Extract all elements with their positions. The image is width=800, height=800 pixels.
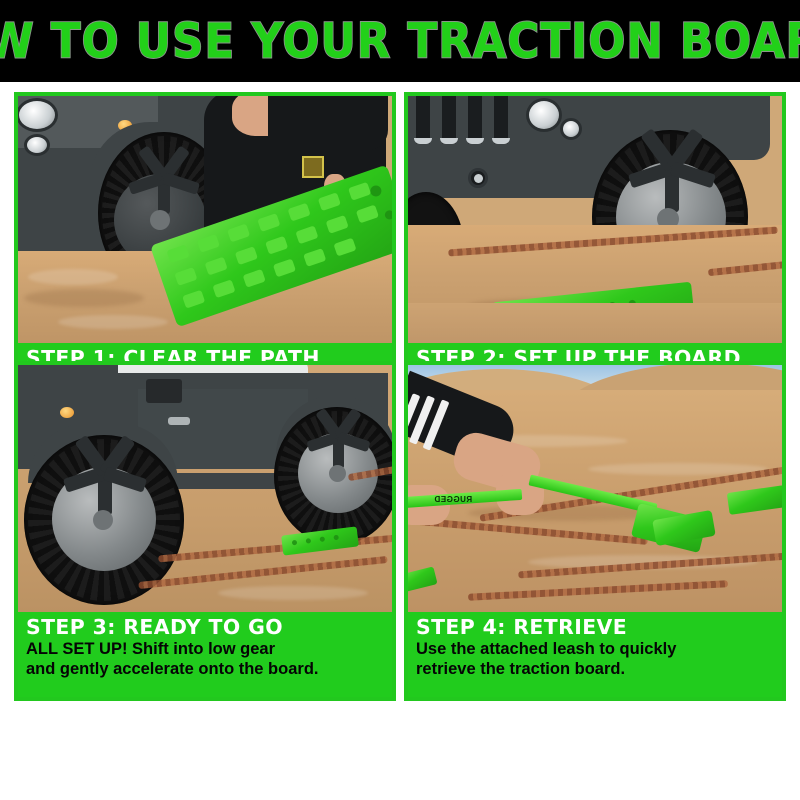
step-3-body-line2: and gently accelerate onto the board. xyxy=(26,660,384,680)
page-title: HOW TO USE YOUR TRACTION BOARDS xyxy=(0,17,800,65)
step-card-4: RUGGED STEP 4: RETRIEVE Use the attached… xyxy=(404,361,786,701)
headlight-icon xyxy=(18,98,58,132)
step-card-3: STEP 3: READY TO GO ALL SET UP! Shift in… xyxy=(14,361,396,701)
step-3-body-line1: ALL SET UP! Shift into low gear xyxy=(26,640,384,660)
step-4-photo: RUGGED xyxy=(408,365,782,612)
step-4-caption: STEP 4: RETRIEVE Use the attached leash … xyxy=(408,612,782,697)
step-4-body-line2: retrieve the traction board. xyxy=(416,660,774,680)
step-3-title: STEP 3: READY TO GO xyxy=(26,616,391,639)
step-3-photo xyxy=(18,365,392,612)
strap-label: RUGGED xyxy=(434,495,472,504)
step-4-body: Use the attached leash to quickly retrie… xyxy=(416,640,774,679)
infographic-page: HOW TO USE YOUR TRACTION BOARDS xyxy=(0,0,800,800)
steps-grid: STEP 1: CLEAR THE PATH Use as a shovel t… xyxy=(14,92,786,786)
step-1-photo xyxy=(18,96,392,343)
step-4-title: STEP 4: RETRIEVE xyxy=(416,616,781,639)
step-4-body-line1: Use the attached leash to quickly xyxy=(416,640,774,660)
step-3-caption: STEP 3: READY TO GO ALL SET UP! Shift in… xyxy=(18,612,392,697)
headlight-icon xyxy=(526,98,562,132)
header-banner: HOW TO USE YOUR TRACTION BOARDS xyxy=(0,0,800,82)
step-2-photo xyxy=(408,96,782,343)
step-3-body: ALL SET UP! Shift into low gear and gent… xyxy=(26,640,384,679)
